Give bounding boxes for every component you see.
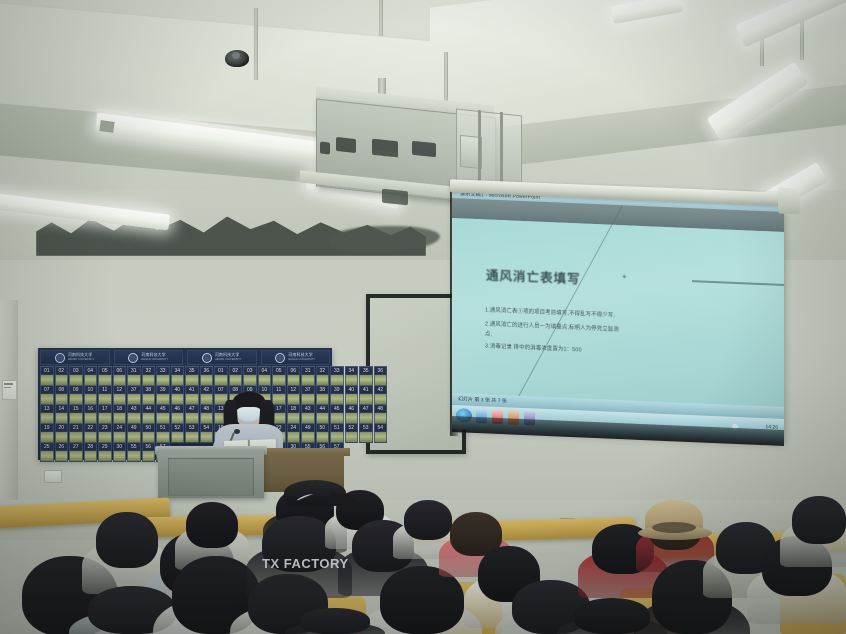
audience-member-head xyxy=(792,496,846,544)
audience-member-head xyxy=(574,598,650,634)
audience-member-head xyxy=(300,608,370,634)
nike-swoosh-icon xyxy=(296,488,314,495)
lecture-hall-scene: EPSON 演示文稿1 - Microsoft PowerPoint 通风消亡表… xyxy=(0,0,846,634)
audience-member-head xyxy=(404,500,452,540)
jacket-text-label: TX FACTORY xyxy=(262,556,349,571)
audience xyxy=(0,0,846,634)
audience-member-head xyxy=(186,502,238,548)
audience-member-head xyxy=(96,512,158,568)
bucket-hat-shadow xyxy=(652,522,696,533)
